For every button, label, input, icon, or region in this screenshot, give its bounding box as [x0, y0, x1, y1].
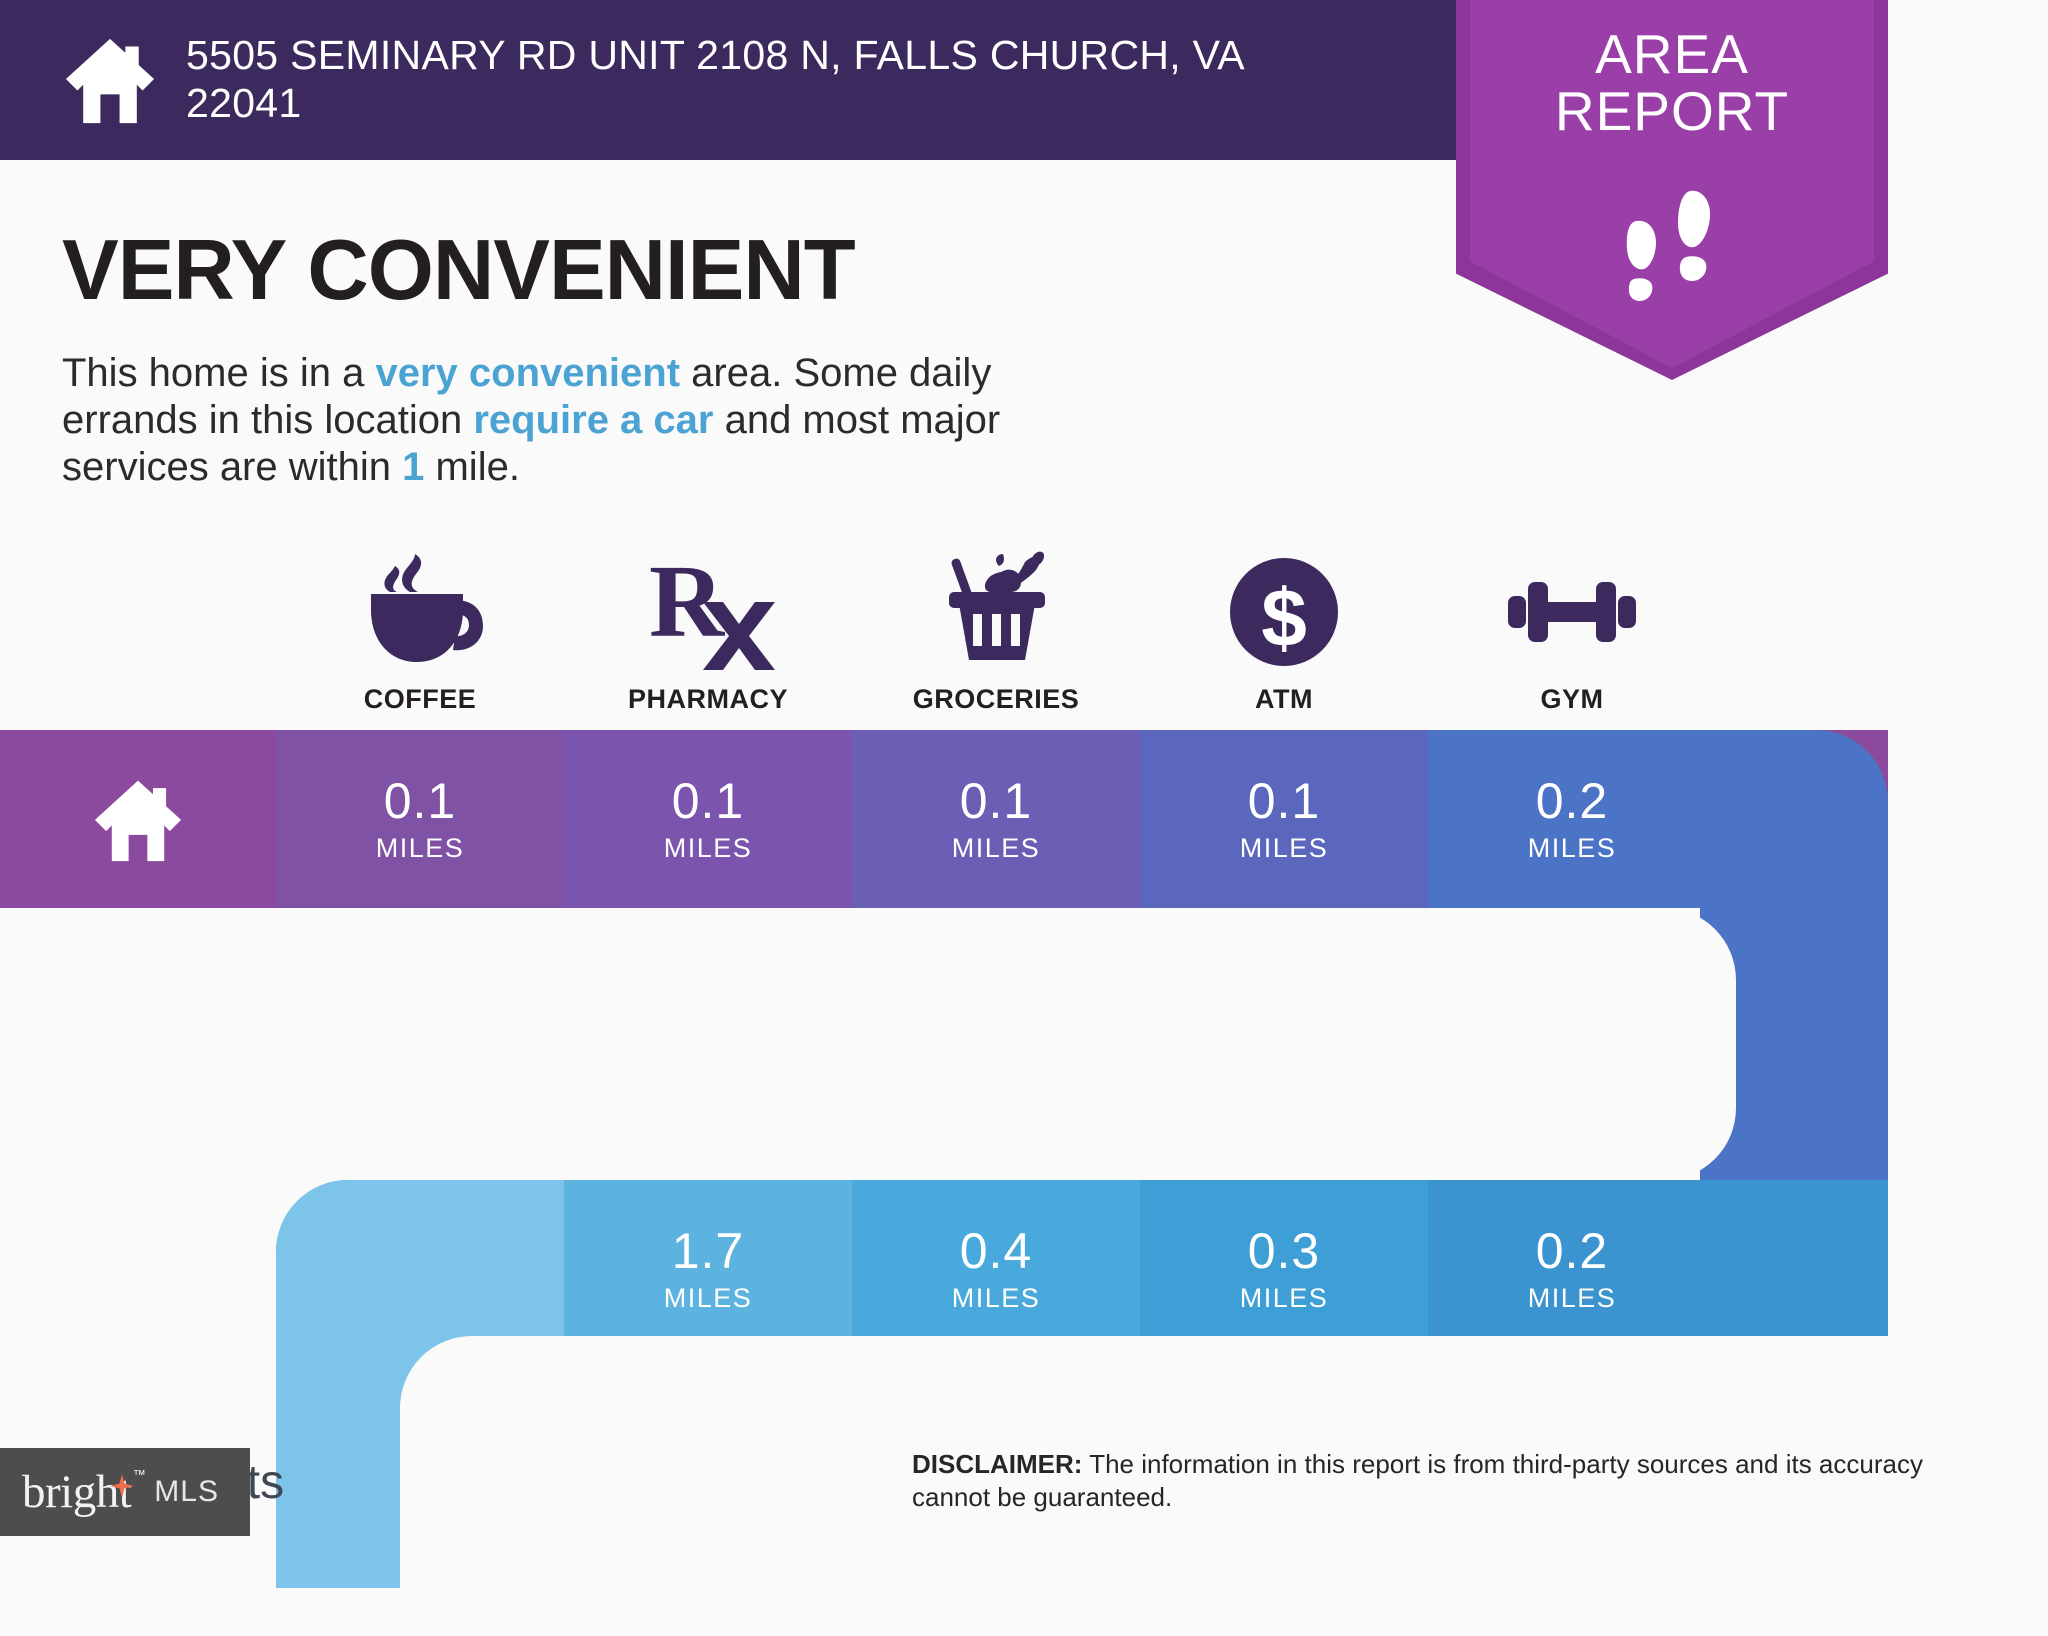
badge-title: AREA REPORT — [1456, 26, 1888, 140]
distance-number: 1.7 — [564, 1226, 852, 1276]
distance-value-groceries: 0.1 MILES — [852, 776, 1140, 862]
pharmacy-rx-icon: R — [564, 540, 852, 670]
distance-unit: MILES — [276, 835, 564, 862]
summary-text: This home is in a very convenient area. … — [62, 350, 1122, 492]
distance-unit: MILES — [1428, 1285, 1716, 1312]
blurb-accent-2: require a car — [473, 398, 713, 442]
ribbon-cell-groceries: 0.1 MILES — [852, 730, 1140, 908]
distance-unit: MILES — [564, 1285, 852, 1312]
distance-unit: MILES — [852, 1285, 1140, 1312]
amenity-atm: $ ATM — [1140, 540, 1428, 715]
ribbon-cell-movie-theater: 1.7 MILES — [564, 1180, 852, 1358]
badge-line-1: AREA — [1595, 23, 1749, 85]
home-icon — [62, 35, 158, 125]
distance-ribbon: 0.1 MILES 0.1 MILES 0.1 MILES 0.1 MILES … — [0, 730, 2048, 1350]
logo-star-icon — [110, 1474, 134, 1498]
distance-value-gas: 0.4 MILES — [852, 1226, 1140, 1312]
ribbon-cell-lead — [276, 1180, 564, 1358]
ribbon-notch-upper — [0, 908, 1736, 1180]
amenity-label: PHARMACY — [564, 684, 852, 715]
distance-value-medical: 0.2 MILES — [1428, 1226, 1716, 1312]
svg-text:$: $ — [1261, 573, 1307, 664]
logo-mls-text: MLS — [154, 1475, 219, 1509]
distance-value-cleaners: 0.3 MILES — [1140, 1226, 1428, 1312]
ribbon-cell-pharmacy: 0.1 MILES — [564, 730, 852, 908]
gym-dumbbell-icon — [1428, 540, 1716, 670]
home-icon — [91, 775, 185, 863]
blurb-part-1: This home is in a — [62, 351, 375, 395]
amenity-groceries: GROCERIES — [852, 540, 1140, 715]
ribbon-cell-medical: 0.2 MILES — [1428, 1180, 1716, 1358]
distance-number: 0.2 — [1428, 776, 1716, 826]
amenity-label: GYM — [1428, 684, 1716, 715]
blurb-accent-1: very convenient — [375, 351, 680, 395]
ribbon-cell-atm: 0.1 MILES — [1140, 730, 1428, 908]
property-address: 5505 SEMINARY RD UNIT 2108 N, FALLS CHUR… — [186, 32, 1366, 128]
ribbon-cell-gas: 0.4 MILES — [852, 1180, 1140, 1358]
footprints-icon — [1612, 175, 1732, 305]
distance-number: 0.1 — [852, 776, 1140, 826]
distance-number: 0.1 — [276, 776, 564, 826]
distance-value-gym: 0.2 MILES — [1428, 776, 1716, 862]
page-title: VERY CONVENIENT — [62, 222, 855, 320]
distance-number: 0.4 — [852, 1226, 1140, 1276]
distance-unit: MILES — [564, 835, 852, 862]
ribbon-cell-cleaners: 0.3 MILES — [1140, 1180, 1428, 1358]
distance-number: 0.1 — [1140, 776, 1428, 826]
atm-dollar-icon: $ — [1140, 540, 1428, 670]
amenity-label: ATM — [1140, 684, 1428, 715]
disclaimer-label: DISCLAIMER: — [912, 1449, 1082, 1479]
distance-unit: MILES — [1140, 835, 1428, 862]
disclaimer: DISCLAIMER: The information in this repo… — [912, 1448, 1972, 1514]
logo-tm: ™ — [133, 1467, 146, 1482]
amenity-coffee: COFFEE — [276, 540, 564, 715]
amenity-label: COFFEE — [276, 684, 564, 715]
badge-line-2: REPORT — [1555, 80, 1789, 142]
ribbon-cell-coffee: 0.1 MILES — [276, 730, 564, 908]
bright-mls-logo: bright ™ MLS — [0, 1448, 250, 1536]
blurb-part-4: mile. — [424, 445, 520, 489]
area-report-badge: AREA REPORT — [1456, 0, 1888, 380]
amenity-label: GROCERIES — [852, 684, 1140, 715]
logo-bright-text: bright ™ — [22, 1465, 131, 1519]
distance-value-pharmacy: 0.1 MILES — [564, 776, 852, 862]
distance-unit: MILES — [852, 835, 1140, 862]
ribbon-cell-home — [0, 730, 276, 908]
distance-number: 0.2 — [1428, 1226, 1716, 1276]
blurb-accent-3: 1 — [402, 445, 424, 489]
distance-value-coffee: 0.1 MILES — [276, 776, 564, 862]
ribbon-cell-gym: 0.2 MILES — [1428, 730, 1716, 908]
coffee-icon — [276, 540, 564, 670]
distance-value-movie-theater: 1.7 MILES — [564, 1226, 852, 1312]
groceries-basket-icon — [852, 540, 1140, 670]
amenity-gym: GYM — [1428, 540, 1716, 715]
distance-number: 0.3 — [1140, 1226, 1428, 1276]
distance-value-atm: 0.1 MILES — [1140, 776, 1428, 862]
distance-unit: MILES — [1428, 835, 1716, 862]
amenity-pharmacy: R PHARMACY — [564, 540, 852, 715]
header-bar: 5505 SEMINARY RD UNIT 2108 N, FALLS CHUR… — [0, 0, 1456, 160]
distance-number: 0.1 — [564, 776, 852, 826]
distance-unit: MILES — [1140, 1285, 1428, 1312]
